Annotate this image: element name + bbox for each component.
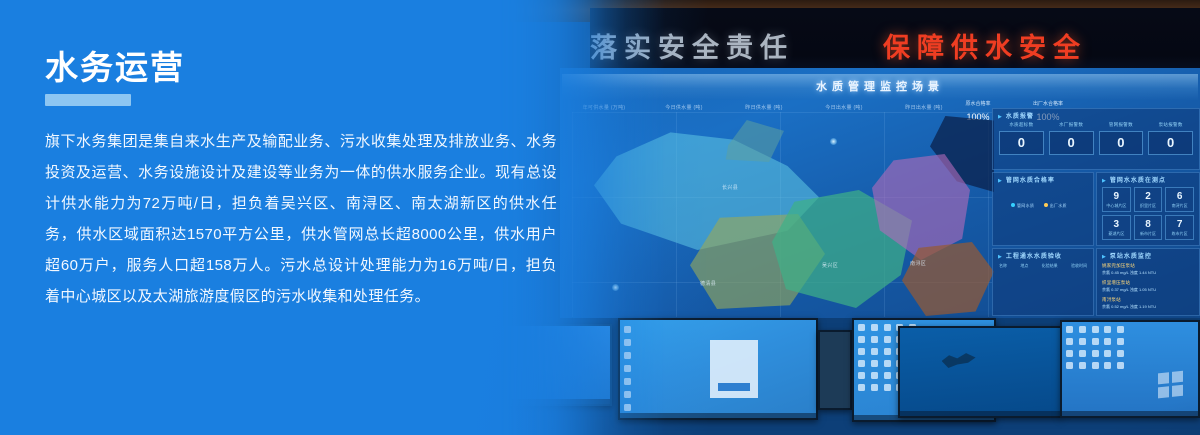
point-label: 织里片区	[1135, 203, 1162, 209]
panel-title: 工程通水水质验收	[998, 251, 1062, 260]
panel-pipe-quality-rate: 管网水质合格率 管网水质 出厂水质	[992, 172, 1094, 246]
pump-name: 南浔泵站	[1102, 297, 1194, 303]
map-marker-dot	[612, 284, 619, 291]
desktop-icon	[884, 348, 891, 355]
kpi-label: 昨日出水量 (吨)	[905, 105, 942, 111]
text-column: 水务运营 旗下水务集团是集自来水生产及输配业务、污水收集处理及排放业务、水务投资…	[45, 48, 565, 327]
desktop-icon	[858, 360, 865, 367]
desktop-icon	[884, 336, 891, 343]
desk-monitor-diver	[898, 326, 1062, 418]
desktop-icon	[1066, 350, 1073, 357]
chart-legend: 管网水质 出厂水质	[1011, 203, 1067, 209]
column-header: 验收时间	[1071, 263, 1087, 269]
monitoring-point-cell: 8 新市片区	[1134, 215, 1163, 240]
legend-swatch-a	[1011, 203, 1015, 207]
point-value: 7	[1166, 219, 1193, 230]
desktop-icon	[858, 384, 865, 391]
dashboard-title: 水质管理监控场景	[562, 78, 1198, 94]
desktop-icon	[1079, 326, 1086, 333]
desktop-icon	[1117, 362, 1124, 369]
pump-name: 姚家兜加压泵站	[1102, 263, 1194, 269]
point-label: 菱湖片区	[1103, 231, 1130, 237]
kpi-label: 年可供水量 (万吨)	[583, 105, 626, 111]
point-value: 6	[1166, 191, 1193, 202]
kpi-label: 原水合格率	[965, 101, 990, 107]
desktop-icon	[871, 336, 878, 343]
monitoring-point-cell: 7 练市片区	[1165, 215, 1194, 240]
point-value: 2	[1135, 191, 1162, 202]
desk-monitor-2	[618, 318, 818, 420]
alarm-stat-value: 0	[1049, 131, 1094, 155]
pump-name: 织里增压泵站	[1102, 280, 1194, 286]
pump-log-item: 姚家兜加压泵站 余氯 0.45 mg/L 浊度 1.44 NTU	[1102, 263, 1194, 276]
legend-label-a: 管网水质	[1017, 203, 1034, 208]
dialog-window	[710, 340, 758, 398]
desktop-icon	[624, 404, 631, 411]
desktop-icon	[858, 348, 865, 355]
desktop-icon	[858, 372, 865, 379]
dialog-button	[718, 383, 750, 391]
desktop-icon	[624, 326, 631, 333]
desktop-icon	[1079, 338, 1086, 345]
desktop-icon	[1079, 362, 1086, 369]
pump-values: 余氯 0.52 mg/L 浊度 1.19 NTU	[1102, 304, 1194, 310]
desktop-icon	[1066, 326, 1073, 333]
desktop-icon	[1104, 350, 1111, 357]
point-label: 南浔片区	[1166, 203, 1193, 209]
monitoring-point-cell: 6 南浔片区	[1165, 187, 1194, 212]
panel-monitoring-points: 管网水水质在测点 9 中心城片区 2 织里片区 6 南浔片区 3 菱湖片区	[1096, 172, 1200, 246]
map-label: 吴兴区	[822, 262, 838, 269]
taskbar	[1062, 411, 1198, 416]
photo-inner: 落实安全责任 保障供水安全 水质管理监控场景 年可供水量 (万吨) 今日供水量 …	[500, 0, 1200, 435]
point-label: 新市片区	[1135, 231, 1162, 237]
desktop-icon	[858, 336, 865, 343]
point-label: 中心城片区	[1103, 203, 1130, 209]
desktop-icon	[871, 324, 878, 331]
desktop-icon	[884, 384, 891, 391]
taskbar	[502, 399, 610, 404]
pump-values: 余氯 0.37 mg/L 浊度 1.05 NTU	[1102, 287, 1194, 293]
alarm-stat: 水厂报警数 0	[1049, 122, 1094, 155]
alarm-stat-label: 水厂报警数	[1049, 122, 1094, 128]
alarm-stat-label: 水质超标数	[999, 122, 1044, 128]
alarm-stat-value: 0	[1099, 131, 1144, 155]
dashboard-header-strip: 水质管理监控场景	[562, 74, 1198, 100]
control-room-photo: 落实安全责任 保障供水安全 水质管理监控场景 年可供水量 (万吨) 今日供水量 …	[500, 0, 1200, 435]
wall-slogan-right: 保障供水安全	[883, 26, 1087, 65]
section-paragraph: 旗下水务集团是集自来水生产及输配业务、污水收集处理及排放业务、水务投资及运营、水…	[45, 126, 557, 312]
column-header: 名称	[999, 263, 1007, 269]
desktop-icon	[884, 360, 891, 367]
pump-log-item: 南浔泵站 余氯 0.52 mg/L 浊度 1.19 NTU	[1102, 297, 1194, 310]
desktop-icon	[1104, 362, 1111, 369]
desktop-icon	[871, 372, 878, 379]
kpi-label: 出厂水合格率	[1033, 101, 1063, 107]
monitoring-point-grid: 9 中心城片区 2 织里片区 6 南浔片区 3 菱湖片区 8 新市片区	[1102, 187, 1194, 240]
panel-acceptance-table: 工程通水水质验收 名称 地点 化验结果 验收时间	[992, 248, 1094, 316]
desktop-icon	[871, 384, 878, 391]
alarm-stat-label: 泵站报警数	[1148, 122, 1193, 128]
desktop-icon	[1092, 338, 1099, 345]
alarm-stat: 水质超标数 0	[999, 122, 1044, 155]
column-header: 地点	[1020, 263, 1028, 269]
desktop-icon-grid	[1066, 326, 1128, 408]
desktop-icon	[858, 324, 865, 331]
panel-title: 泵站水质监控	[1102, 251, 1152, 260]
desktop-icon	[1092, 350, 1099, 357]
panel-title: 水质报警	[998, 111, 1034, 120]
panel-title: 管网水水质在测点	[1102, 175, 1166, 184]
desktop-icon	[1092, 326, 1099, 333]
legend-label-b: 出厂水质	[1050, 203, 1067, 208]
panel-pump-quality-monitor: 泵站水质监控 姚家兜加压泵站 余氯 0.45 mg/L 浊度 1.44 NTU …	[1096, 248, 1200, 316]
desk-monitor-1	[500, 324, 612, 406]
column-header: 化验结果	[1042, 263, 1058, 269]
page-title: 水务运营	[45, 48, 565, 88]
monitoring-point-cell: 9 中心城片区	[1102, 187, 1131, 212]
wall-slogan-left: 落实安全责任	[590, 26, 794, 65]
pump-log-list: 姚家兜加压泵站 余氯 0.45 mg/L 浊度 1.44 NTU 织里增压泵站 …	[1102, 263, 1194, 314]
desktop-icon	[884, 372, 891, 379]
desktop-icon	[1066, 362, 1073, 369]
monitoring-point-cell: 3 菱湖片区	[1102, 215, 1131, 240]
alarm-stat: 管网报警数 0	[1099, 122, 1144, 155]
desktop-icon	[871, 360, 878, 367]
alarm-stat: 泵站报警数 0	[1148, 122, 1193, 155]
point-label: 练市片区	[1166, 231, 1193, 237]
diver-silhouette	[942, 351, 976, 373]
desktop-icon	[1092, 362, 1099, 369]
map-label: 德清县	[700, 280, 716, 287]
taskbar	[620, 413, 816, 418]
kpi-label: 今日供水量 (吨)	[665, 105, 702, 111]
panel-water-quality-alarm: 水质报警 水质超标数 0 水厂报警数 0 管网报警数 0 泵	[992, 108, 1200, 170]
monitoring-point-cell: 2 织里片区	[1134, 187, 1163, 212]
alarm-stat-value: 0	[1148, 131, 1193, 155]
desktop-icon	[1117, 350, 1124, 357]
desktop-icon	[1066, 338, 1073, 345]
windows-logo-icon	[1158, 371, 1184, 400]
title-underline-rule	[45, 94, 131, 106]
desktop-icon	[1104, 338, 1111, 345]
point-value: 8	[1135, 219, 1162, 230]
desktop-icon	[624, 339, 631, 346]
point-value: 9	[1103, 191, 1130, 202]
alarm-stat-label: 管网报警数	[1099, 122, 1144, 128]
map-label: 南浔区	[910, 260, 926, 267]
desk-monitor-side	[818, 330, 852, 410]
desktop-icon	[884, 324, 891, 331]
kpi-label: 昨日供水量 (吨)	[745, 105, 782, 111]
desktop-icon	[871, 348, 878, 355]
point-value: 3	[1103, 219, 1130, 230]
region-map: 长兴县 吴兴区 南浔区 德清县	[572, 112, 992, 317]
taskbar	[900, 411, 1060, 416]
alarm-stat-row: 水质超标数 0 水厂报警数 0 管网报警数 0 泵站报警数 0	[999, 122, 1193, 155]
desktop-icon	[1117, 338, 1124, 345]
pump-values: 余氯 0.45 mg/L 浊度 1.44 NTU	[1102, 270, 1194, 276]
legend-swatch-b	[1044, 203, 1048, 207]
water-operations-banner: 落实安全责任 保障供水安全 水质管理监控场景 年可供水量 (万吨) 今日供水量 …	[0, 0, 1200, 435]
alarm-stat-value: 0	[999, 131, 1044, 155]
desk-monitor-4	[1060, 320, 1200, 418]
kpi-label: 今日出水量 (吨)	[825, 105, 862, 111]
desktop-icon	[624, 378, 631, 385]
desktop-icon	[1079, 350, 1086, 357]
panel-title: 管网水质合格率	[998, 175, 1055, 184]
desktop-icon-column	[624, 326, 634, 412]
desktop-icon	[1104, 326, 1111, 333]
desktop-icon	[624, 391, 631, 398]
acceptance-table-header: 名称 地点 化验结果 验收时间	[999, 263, 1087, 269]
desktop-icon	[1117, 326, 1124, 333]
desktop-icon	[624, 352, 631, 359]
map-marker-dot	[830, 138, 837, 145]
pump-log-item: 织里增压泵站 余氯 0.37 mg/L 浊度 1.05 NTU	[1102, 280, 1194, 293]
map-label: 长兴县	[722, 184, 738, 191]
desktop-icon	[624, 365, 631, 372]
